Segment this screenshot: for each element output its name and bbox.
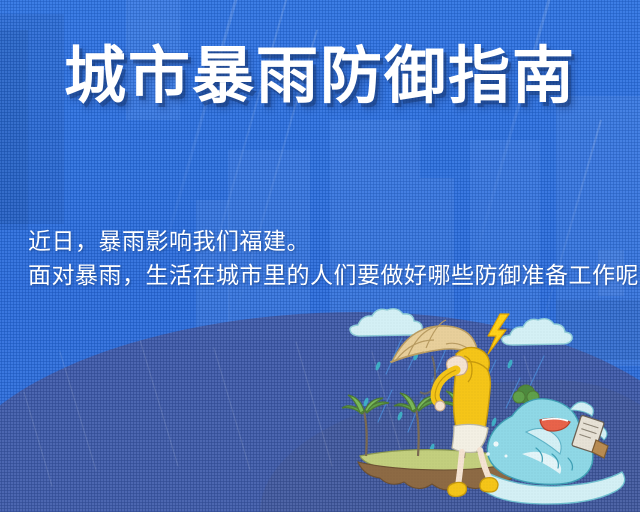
body-line-2: 面对暴雨，生活在城市里的人们要做好哪些防御准备工作呢？ xyxy=(28,258,640,292)
page-title: 城市暴雨防御指南 xyxy=(0,46,640,108)
illustration-scene xyxy=(330,298,640,512)
poster-canvas: 城市暴雨防御指南 近日，暴雨影响我们福建。 面对暴雨，生活在城市里的人们要做好哪… xyxy=(0,0,640,512)
body-line-1: 近日，暴雨影响我们福建。 xyxy=(28,224,640,258)
body-copy: 近日，暴雨影响我们福建。 面对暴雨，生活在城市里的人们要做好哪些防御准备工作呢？ xyxy=(28,224,640,292)
illustration-svg xyxy=(330,298,640,512)
